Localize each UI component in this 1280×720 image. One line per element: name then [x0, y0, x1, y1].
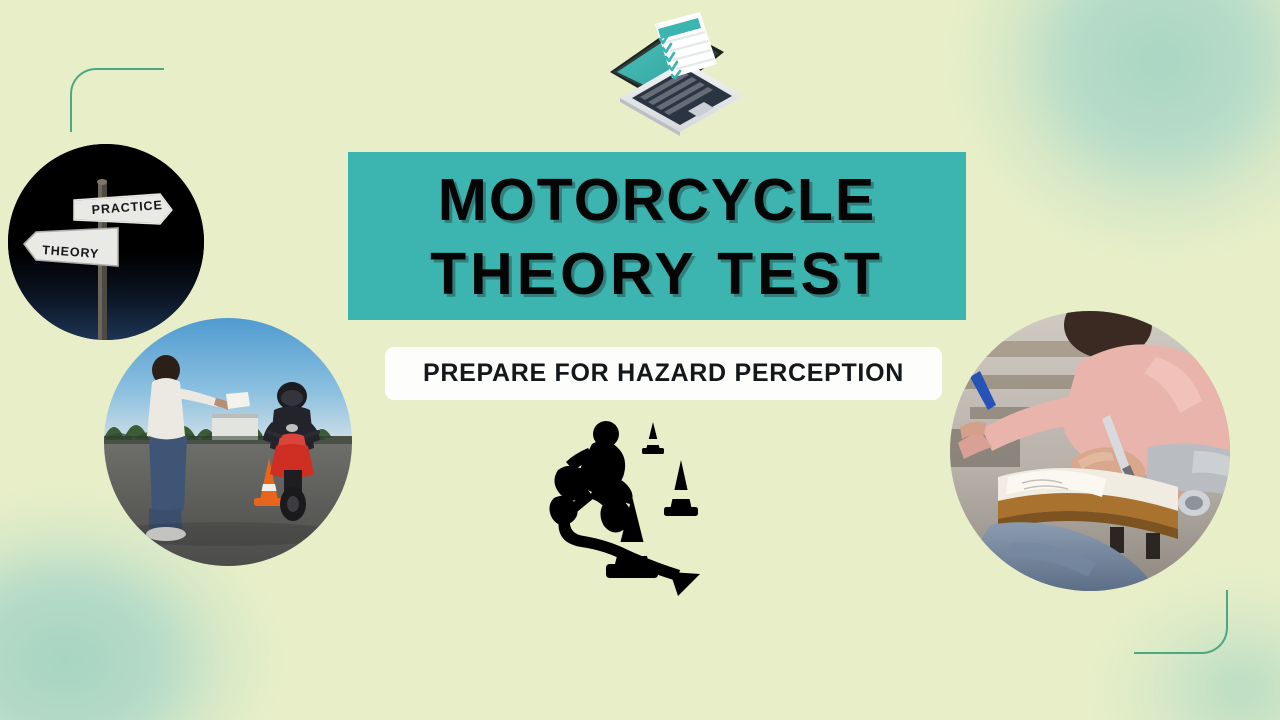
riding-test-photo	[104, 318, 352, 566]
poster-canvas: PRACTICE THEORY PRACTICE THEORY	[0, 0, 1280, 720]
background-blob-top-right	[950, 0, 1280, 260]
subtitle-text: PREPARE FOR HAZARD PERCEPTION	[423, 359, 904, 388]
subtitle-box: PREPARE FOR HAZARD PERCEPTION	[385, 347, 942, 400]
exam-writing-photo	[950, 311, 1230, 591]
background-blob-bottom-right	[1090, 570, 1280, 720]
page-title-line-1: MOTORCYCLE	[438, 163, 876, 237]
corner-bracket-bottom-right-icon	[1134, 590, 1228, 654]
motorcycle-slalom-icon	[548, 414, 748, 604]
page-title-line-2: THEORY TEST	[430, 237, 884, 311]
corner-bracket-top-left-icon	[70, 68, 164, 132]
laptop-checklist-icon	[592, 6, 752, 136]
signpost-photo: PRACTICE THEORY PRACTICE THEORY	[8, 144, 204, 340]
title-banner: MOTORCYCLE THEORY TEST	[348, 152, 966, 320]
